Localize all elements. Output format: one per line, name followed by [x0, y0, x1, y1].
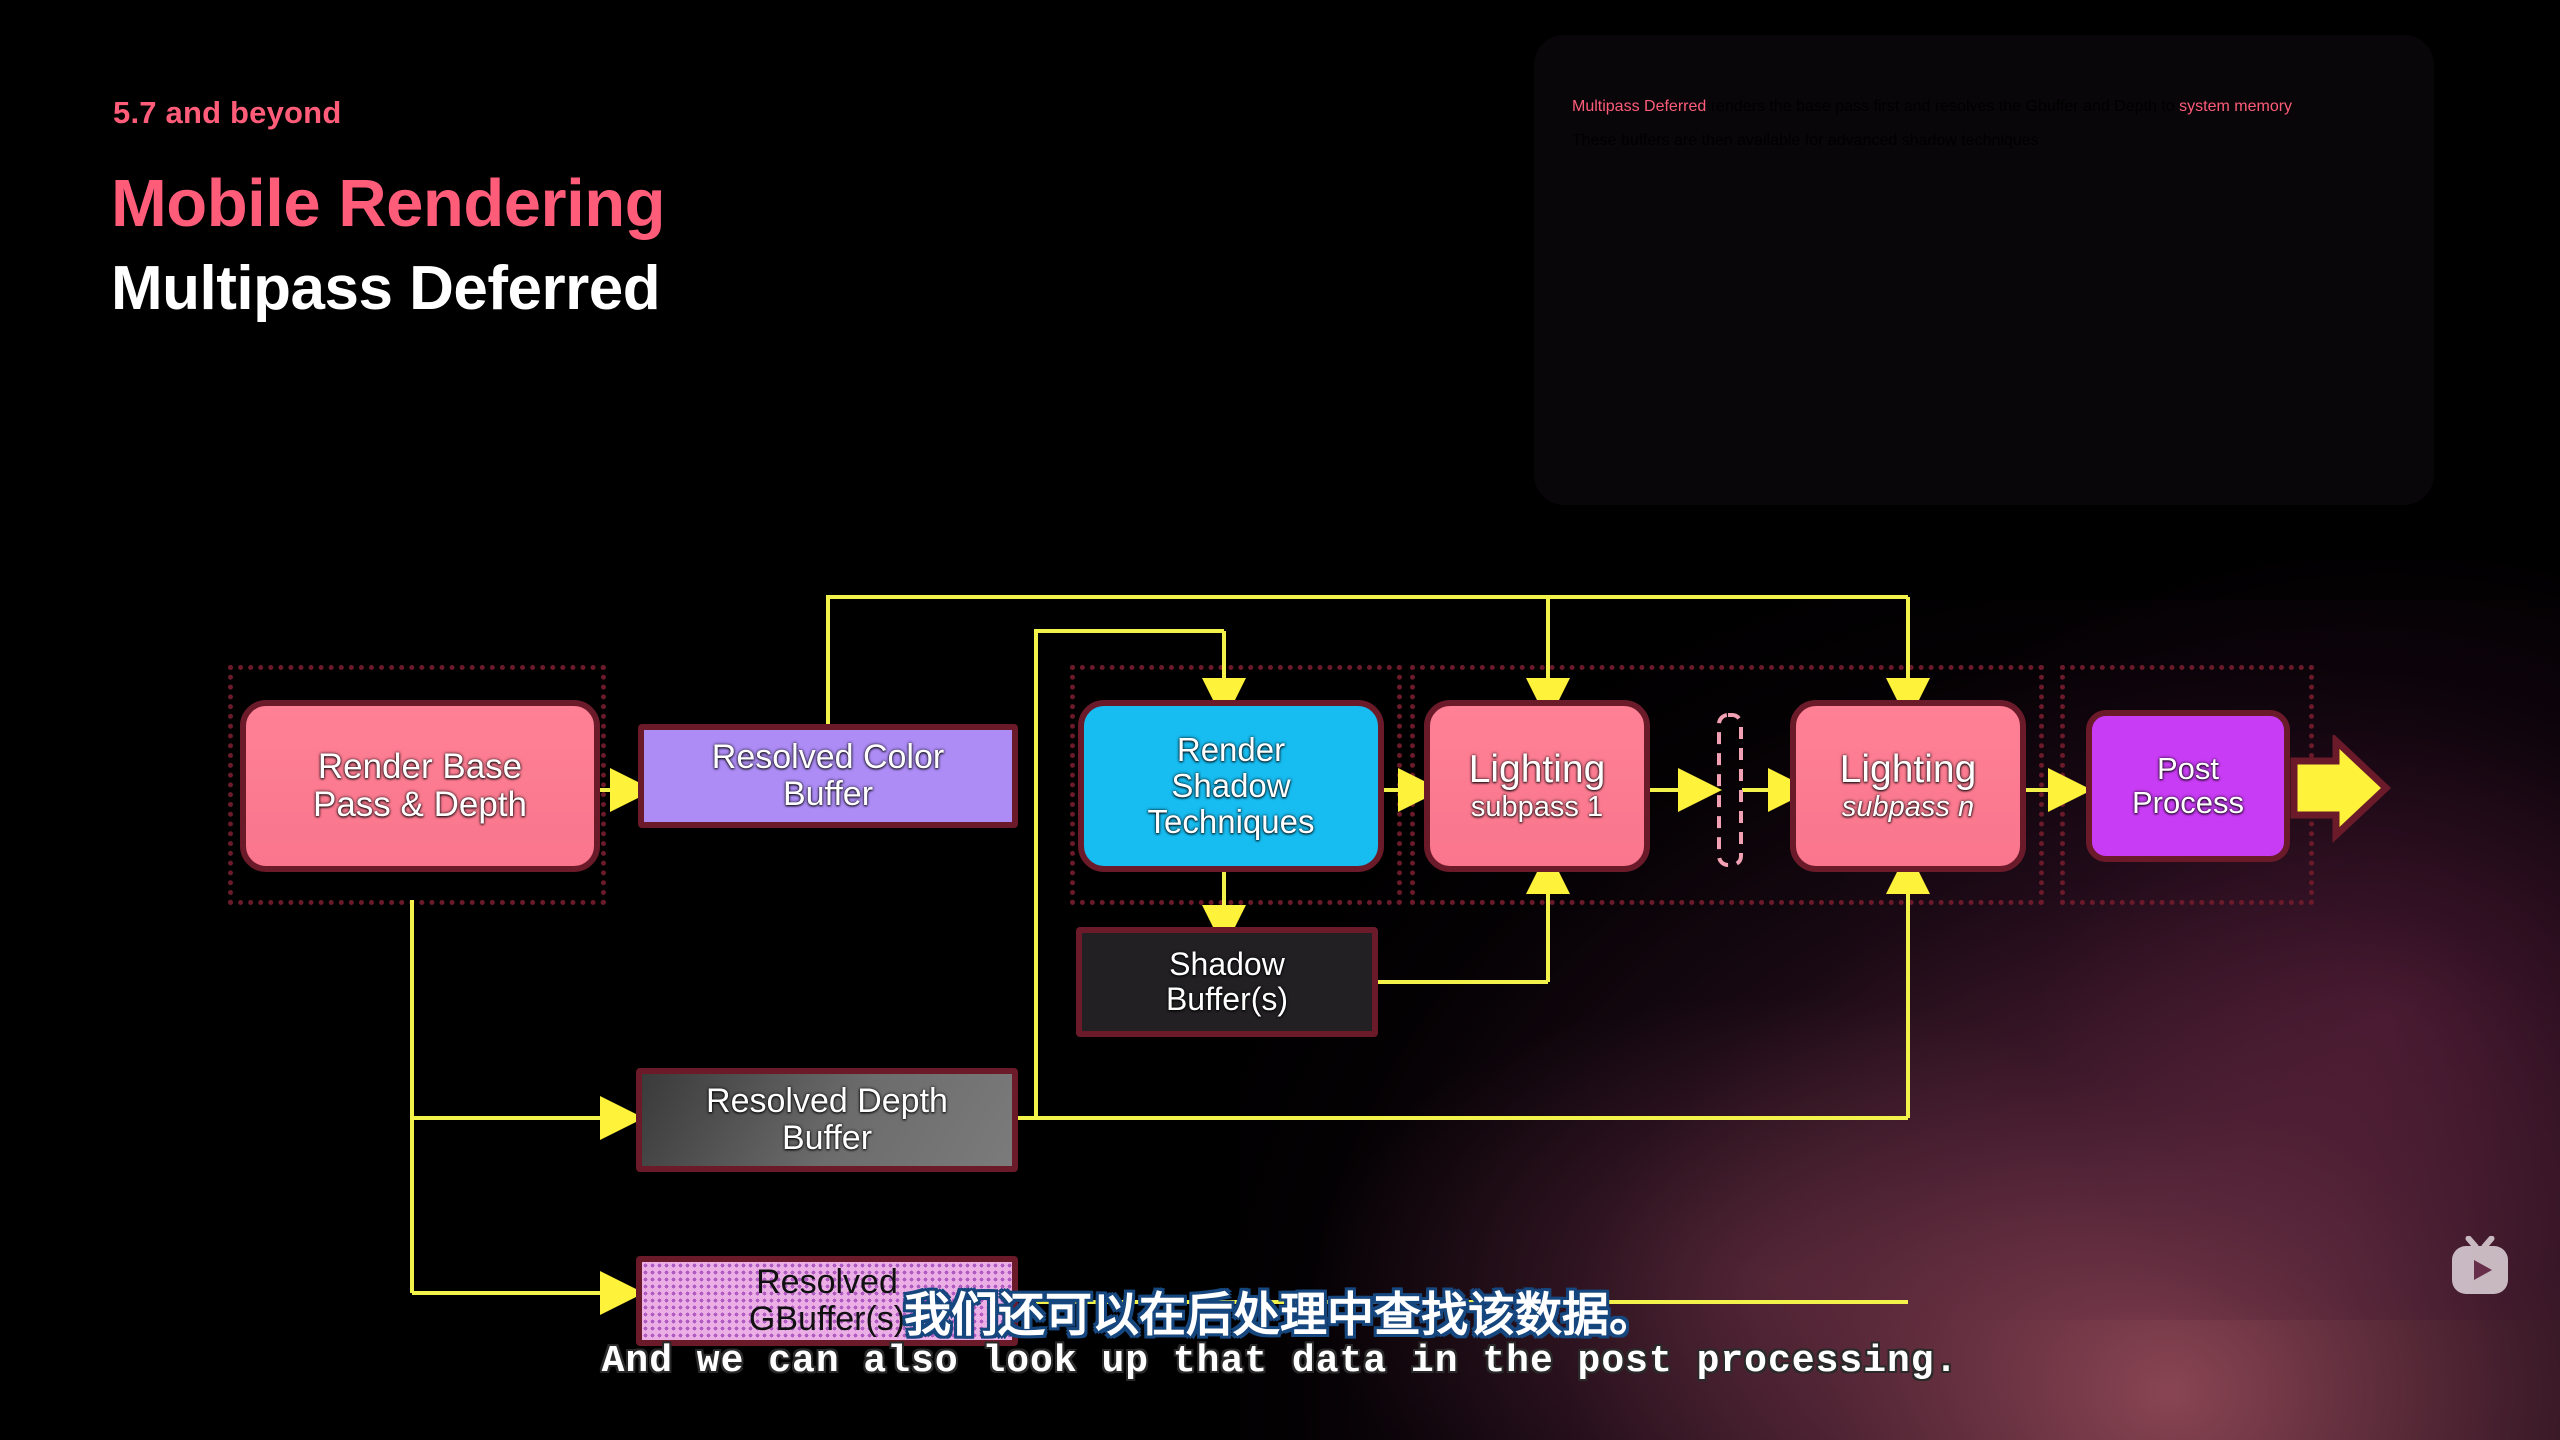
node-resolved-depth-buffer-label: Resolved Depth Buffer — [698, 1083, 956, 1158]
node-shadow-buffers[interactable]: Shadow Buffer(s) — [1076, 927, 1378, 1037]
node-post-process-label: Post Process — [2124, 752, 2252, 820]
node-lighting-subpass-n-label: Lighting subpass n — [1832, 749, 1985, 824]
lighting-subpass-ellipsis-box — [1719, 715, 1741, 865]
node-lighting-subpass-n[interactable]: Lighting subpass n — [1790, 700, 2026, 872]
subtitle-chinese: 我们还可以在后处理中查找该数据。 — [0, 1276, 2560, 1345]
node-lighting-subpass-1[interactable]: Lighting subpass 1 — [1424, 700, 1650, 872]
node-resolved-color-buffer-label: Resolved Color Buffer — [704, 739, 952, 814]
node-shadow-buffers-label: Shadow Buffer(s) — [1158, 947, 1296, 1017]
node-render-base-pass[interactable]: Render Base Pass & Depth — [240, 700, 600, 872]
node-render-shadow-techniques[interactable]: Render Shadow Techniques — [1078, 700, 1384, 872]
node-lighting-subpass-1-label: Lighting subpass 1 — [1461, 749, 1614, 824]
node-post-process[interactable]: Post Process — [2086, 710, 2290, 862]
subtitle-english: And we can also look up that data in the… — [0, 1340, 2560, 1383]
slide-canvas: 5.7 and beyond Mobile Rendering Multipas… — [0, 0, 2560, 1440]
pipeline-diagram: Render Base Pass & Depth Resolved Color … — [0, 0, 2560, 1440]
node-render-base-pass-label: Render Base Pass & Depth — [305, 748, 535, 825]
node-resolved-depth-buffer[interactable]: Resolved Depth Buffer — [636, 1068, 1018, 1172]
tv-play-icon — [2448, 1236, 2512, 1298]
node-resolved-color-buffer[interactable]: Resolved Color Buffer — [638, 724, 1018, 828]
node-render-shadow-techniques-label: Render Shadow Techniques — [1140, 732, 1323, 841]
pipeline-output-arrow — [2290, 735, 2410, 845]
